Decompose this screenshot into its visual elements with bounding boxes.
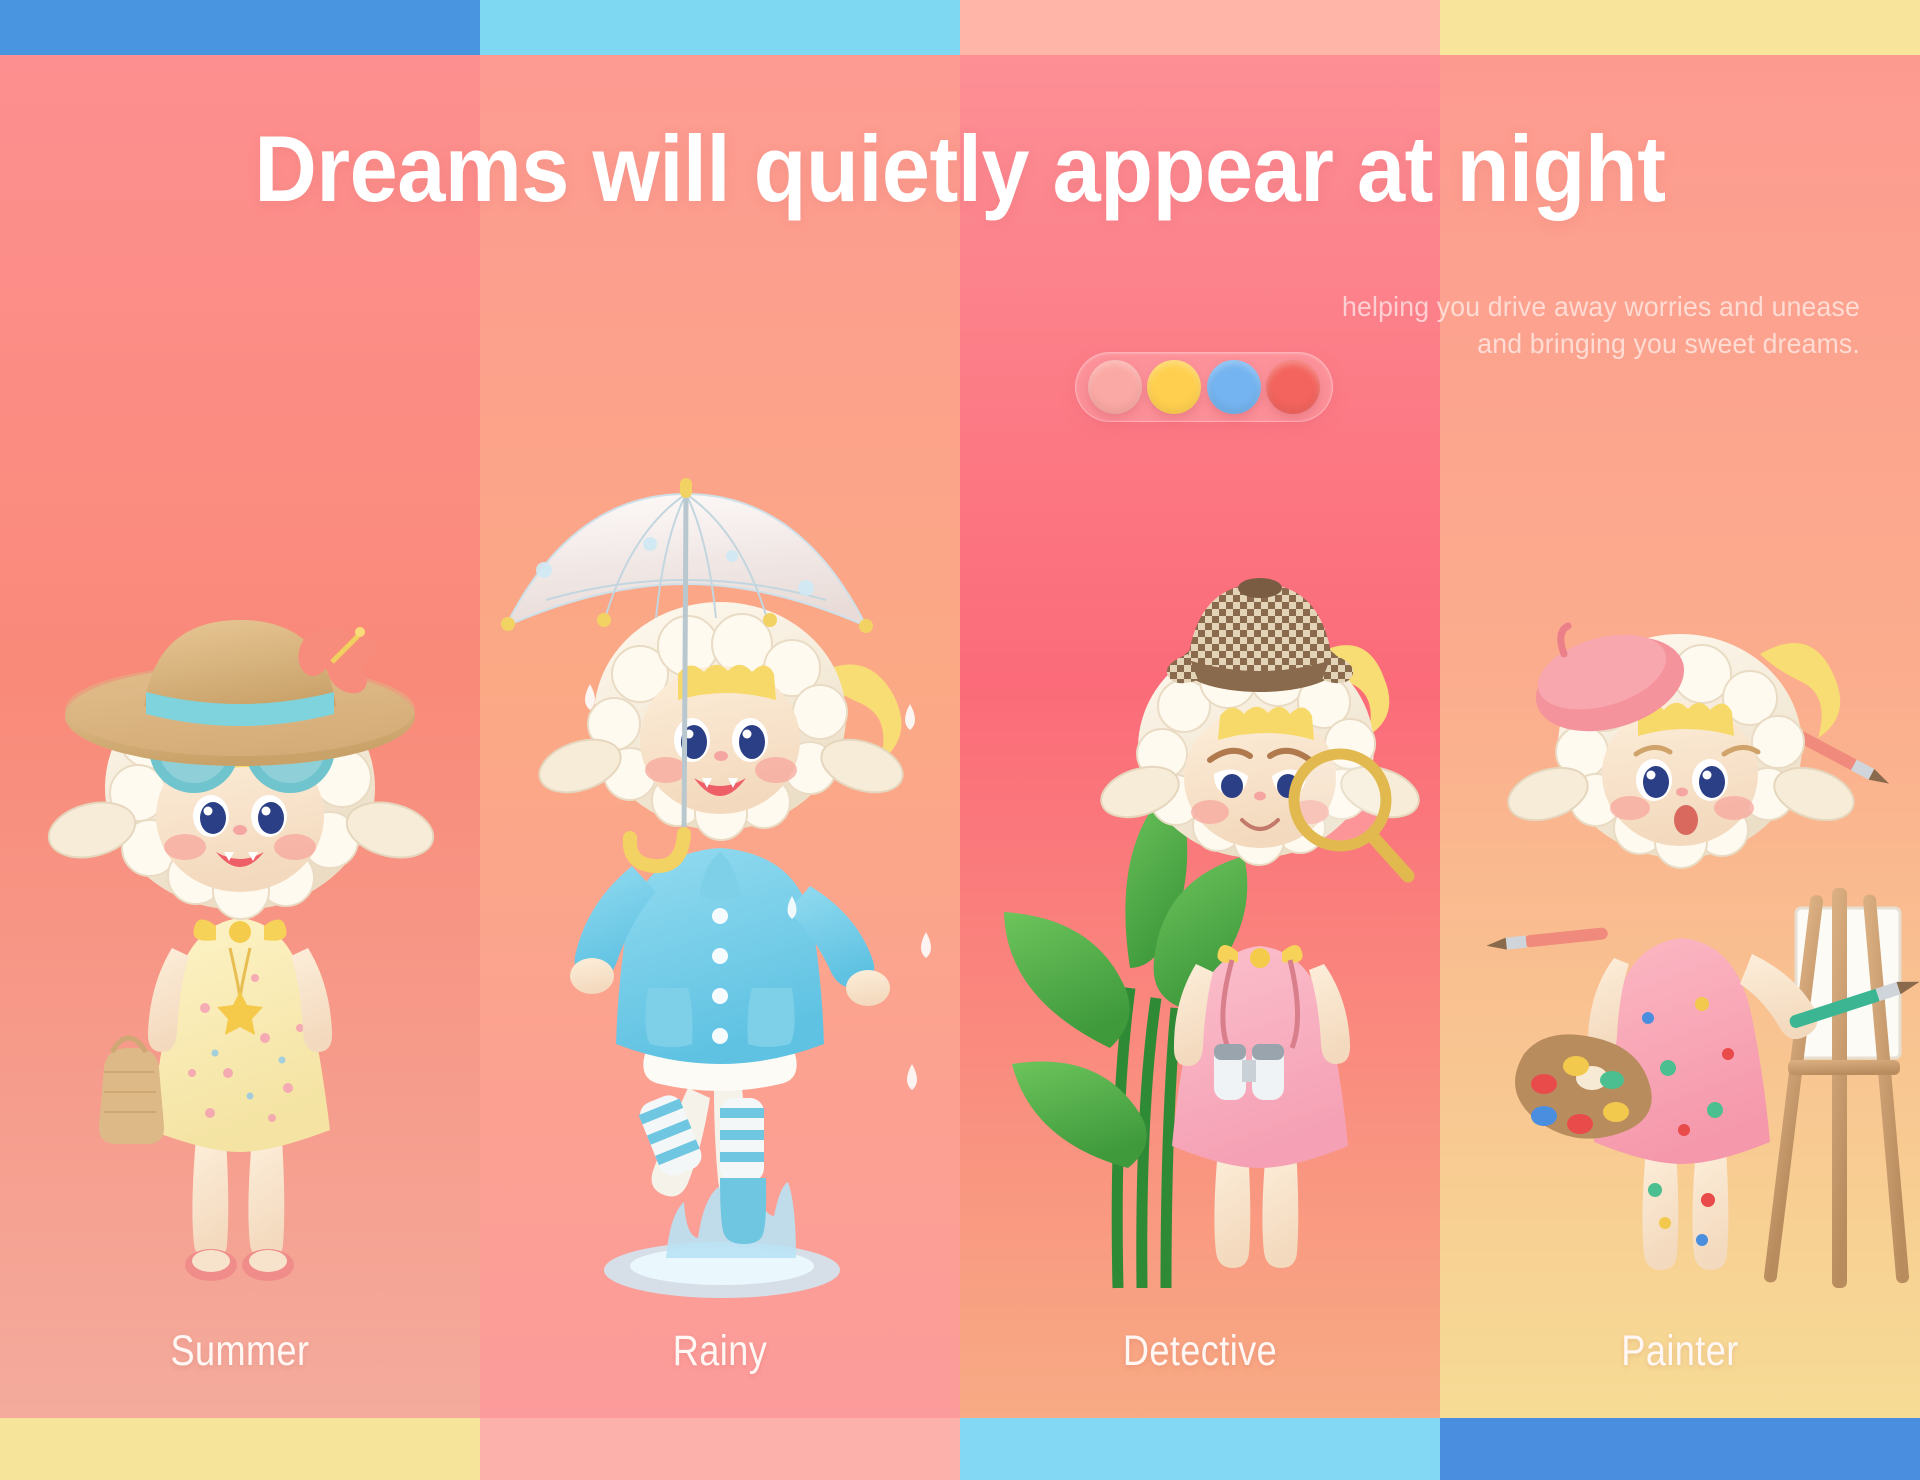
blush-right [755,757,797,783]
umbrella-tip [680,478,692,498]
panel-label-summer: Summer [38,1327,441,1376]
bottom-bar-segment-1 [0,1418,480,1480]
figure-painter [1440,448,1920,1348]
color-swatch-pill[interactable] [1075,352,1333,422]
legs [1642,1148,1728,1270]
top-bar-segment-3 [960,0,1440,55]
leaf-left [1004,912,1130,1048]
easel [1763,888,1909,1288]
blush-right [274,834,316,860]
blush-left [1610,796,1650,820]
rain-boot [720,1178,766,1244]
swatch-red[interactable] [1266,360,1320,414]
legs [185,1138,294,1281]
panel-detective[interactable]: Detective [960,55,1440,1418]
top-bar-segment-2 [480,0,960,55]
character-panels: Summer [0,55,1920,1418]
hat-button [1238,578,1282,598]
hand-left [570,958,614,994]
bow-right [264,919,287,940]
deerstalker-hat [1167,578,1353,692]
blush-left [1191,800,1229,824]
blush-right [1714,796,1754,820]
straw-basket [99,1038,164,1144]
nose [233,825,247,835]
bottom-accent-bar [0,1418,1920,1480]
swatch-yellow[interactable] [1147,360,1201,414]
figure-rainy [480,448,960,1348]
top-bar-segment-1 [0,0,480,55]
panel-rainy[interactable]: Rainy [480,55,960,1418]
swatch-blue[interactable] [1207,360,1261,414]
panel-label-painter: Painter [1478,1327,1881,1376]
umbrella-handle [630,834,684,866]
bottom-bar-segment-4 [1440,1418,1920,1480]
legs [636,1088,767,1244]
swatch-pink[interactable] [1088,360,1142,414]
bottom-bar-segment-3 [960,1418,1440,1480]
nose [714,751,728,761]
panel-painter[interactable]: Painter [1440,55,1920,1418]
hand-right [846,970,890,1006]
panel-summer[interactable]: Summer [0,55,480,1418]
blue-raincoat [570,848,890,1064]
beret-stem [1561,626,1568,654]
poster-canvas: Summer [0,0,1920,1480]
striped-sock-right [720,1098,766,1244]
top-accent-bar [0,0,1920,55]
bow-left [193,919,216,940]
pocket-left [645,988,692,1047]
blush-left [645,757,687,783]
straw-hat [65,620,415,766]
pocket-right [748,988,795,1047]
figure-detective [960,448,1440,1348]
nose [1254,792,1266,801]
page-subtitle: helping you drive away worries and uneas… [1290,288,1860,362]
blush-left [164,834,206,860]
bottom-bar-segment-2 [480,1418,960,1480]
panel-label-detective: Detective [998,1327,1401,1376]
nose [1676,788,1688,797]
figure-summer [0,448,480,1348]
mouth [1674,805,1698,835]
page-title: Dreams will quietly appear at night [77,122,1843,216]
panel-label-rainy: Rainy [518,1327,921,1376]
top-bar-segment-4 [1440,0,1920,55]
paint-brush-left [1486,927,1609,952]
